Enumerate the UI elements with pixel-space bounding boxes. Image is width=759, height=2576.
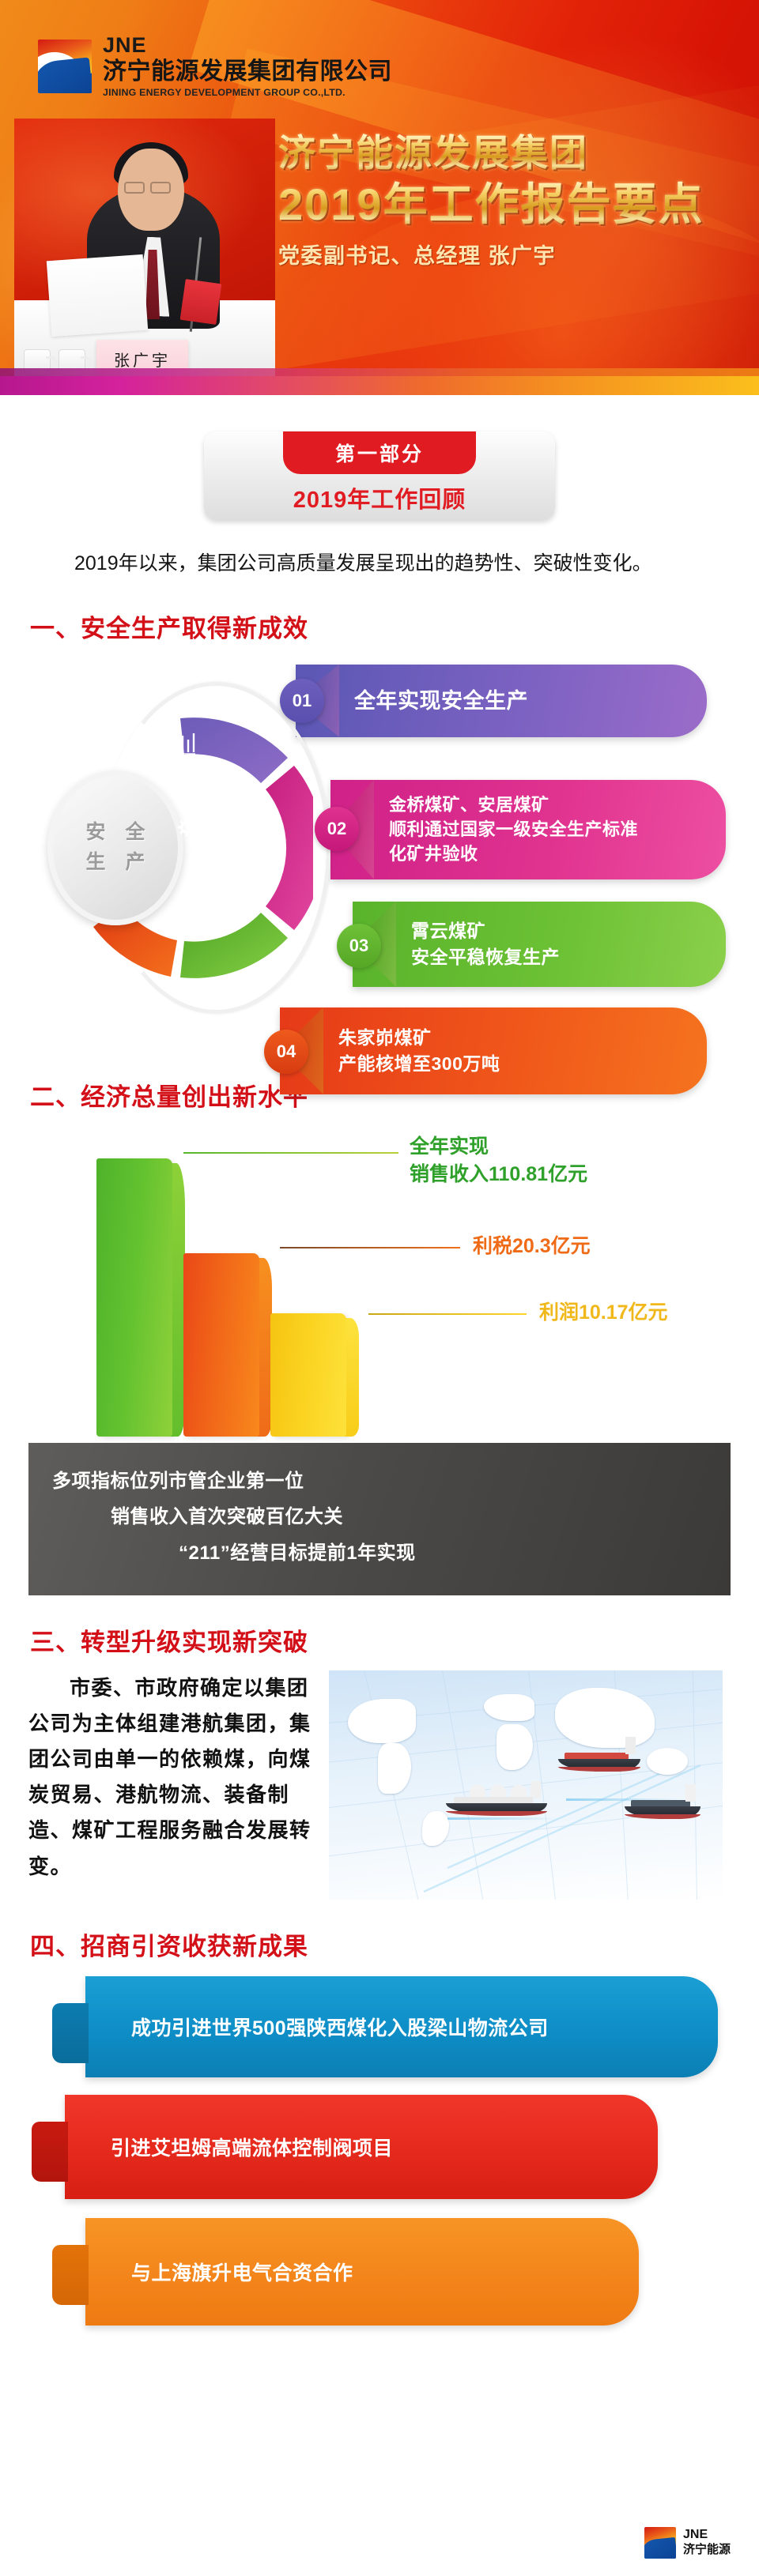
ribbon-item-1-label: 成功引进世界500强陕西煤化入股梁山物流公司 bbox=[131, 2013, 549, 2041]
section-3-row: 市委、市政府确定以集团公司为主体组建港航集团，集团公司由单一的依赖煤，向煤炭贸易… bbox=[28, 1670, 731, 1900]
chart-label-profit: 利润10.17亿元 bbox=[539, 1299, 668, 1327]
ribbon-item-1: 成功引进世界500强陕西煤化入股梁山物流公司 bbox=[85, 1976, 718, 2077]
segment-01 bbox=[180, 717, 288, 783]
chart-label-sales-revenue: 全年实现 销售收入110.81亿元 bbox=[410, 1133, 587, 1188]
part-badge-label: 第一部分 bbox=[335, 439, 424, 467]
photo-red-booklet bbox=[180, 279, 222, 325]
chart-label-profit-tax: 利税20.3亿元 bbox=[473, 1233, 591, 1260]
cargo-ship-icon bbox=[558, 1748, 640, 1772]
diagram-callout-01: 全年实现安全生产 bbox=[296, 665, 707, 737]
content-area: 第一部分 2019年工作回顾 2019年以来，集团公司高质量发展呈现出的趋势性、… bbox=[0, 431, 759, 2348]
ribbon-item-2: 引进艾坦姆高端流体控制阀项目 bbox=[65, 2095, 658, 2199]
glasses-icon bbox=[150, 182, 171, 194]
bar-face bbox=[96, 1158, 172, 1437]
callout-02-text: 金桥煤矿、安居煤矿 顺利通过国家一级安全生产标准 化矿井验收 bbox=[389, 793, 638, 867]
callout-03-line2: 安全平稳恢复生产 bbox=[411, 944, 560, 970]
segment-02 bbox=[266, 766, 313, 930]
photo-paper bbox=[47, 254, 148, 337]
cargo-ship-icon bbox=[625, 1795, 700, 1819]
intro-paragraph: 2019年以来，集团公司高质量发展呈现出的趋势性、突破性变化。 bbox=[35, 547, 724, 582]
logo-company-cn: 济宁能源发展集团有限公司 bbox=[103, 58, 392, 86]
speaker-name: 张广宇 bbox=[114, 348, 171, 371]
logo-company-en: JINING ENERGY DEVELOPMENT GROUP CO.,LTD. bbox=[103, 87, 392, 98]
part-title-card: 第一部分 2019年工作回顾 bbox=[204, 431, 555, 520]
highlight-line-1: 多项指标位列市管企业第一位 bbox=[52, 1463, 707, 1500]
company-logo: JNE 济宁能源发展集团有限公司 JINING ENERGY DEVELOPME… bbox=[38, 35, 392, 98]
diagram-callout-02: 金桥煤矿、安居煤矿 顺利通过国家一级安全生产标准 化矿井验收 bbox=[330, 780, 726, 879]
callout-02-line3: 化矿井验收 bbox=[389, 842, 638, 866]
diagram-hub: 安 全 生 产 bbox=[47, 770, 183, 925]
section-1-heading: 一、安全生产取得新成效 bbox=[30, 608, 731, 644]
footer-logo-text: JNE 济宁能源 bbox=[683, 2529, 731, 2557]
continent-shape bbox=[484, 1694, 534, 1721]
ribbon-tail bbox=[32, 2122, 68, 2182]
highlight-line-2: 销售收入首次突破百亿大关 bbox=[52, 1499, 707, 1535]
callout-03-text: 霄云煤矿 安全平稳恢复生产 bbox=[411, 918, 560, 970]
dollar-icon bbox=[130, 990, 150, 1031]
ribbon-item-3-label: 与上海旗升电气合资合作 bbox=[131, 2258, 353, 2286]
continent-shape bbox=[647, 1748, 688, 1775]
ship-wake bbox=[447, 1817, 558, 1820]
footer-logo-cn: 济宁能源 bbox=[683, 2543, 731, 2557]
infographic-page: JNE 济宁能源发展集团有限公司 JINING ENERGY DEVELOPME… bbox=[0, 0, 759, 2576]
header-banner: JNE 济宁能源发展集团有限公司 JINING ENERGY DEVELOPME… bbox=[0, 0, 759, 395]
glasses-icon bbox=[124, 182, 145, 194]
bar-profit-tax bbox=[183, 1253, 259, 1437]
chart-label-1-line2: 销售收入110.81亿元 bbox=[410, 1161, 587, 1188]
section-3-paragraph: 市委、市政府确定以集团公司为主体组建港航集团，集团公司由单一的依赖煤，向煤炭贸易… bbox=[28, 1670, 312, 1885]
section-4-heading: 四、招商引资收获新成果 bbox=[30, 1926, 731, 1962]
bar-face bbox=[183, 1253, 259, 1437]
economy-bar-chart: 全年实现 销售收入110.81亿元 利税20.3亿元 利润10.17亿元 bbox=[28, 1120, 731, 1437]
continent-shape bbox=[348, 1699, 416, 1743]
callout-04-text: 朱家峁煤矿 产能核增至300万吨 bbox=[338, 1025, 500, 1076]
header-bottom-band bbox=[0, 376, 759, 395]
speaker-photo: 张广宇 bbox=[14, 119, 275, 395]
part-badge: 第一部分 bbox=[283, 431, 476, 474]
bar-face bbox=[270, 1313, 346, 1437]
header-title-group: 济宁能源发展集团 2019年工作报告要点 党委副书记、总经理 张广宇 bbox=[278, 133, 753, 269]
callout-04-line1: 朱家峁煤矿 bbox=[338, 1025, 500, 1051]
diagram-hub-line2: 生 产 bbox=[79, 848, 153, 878]
diagram-badge-04: 04 bbox=[264, 1030, 308, 1074]
bar-profit bbox=[270, 1313, 346, 1437]
alarm-clock-icon bbox=[171, 908, 199, 943]
ribbon-tail bbox=[52, 2245, 89, 2305]
header-bottom-band bbox=[0, 368, 759, 376]
gears-icon bbox=[177, 818, 207, 849]
economy-highlight-box: 多项指标位列市管企业第一位 销售收入首次突破百亿大关 “211”经营目标提前1年… bbox=[28, 1443, 731, 1595]
diagram-badge-01: 01 bbox=[280, 679, 324, 723]
ribbon-item-2-label: 引进艾坦姆高端流体控制阀项目 bbox=[111, 2133, 393, 2161]
callout-03-line1: 霄云煤矿 bbox=[411, 918, 560, 944]
header-subtitle: 党委副书记、总经理 张广宇 bbox=[278, 239, 753, 269]
header-title-line2: 2019年工作报告要点 bbox=[278, 178, 753, 231]
header-title-line1: 济宁能源发展集团 bbox=[278, 133, 753, 175]
part-title-label: 2019年工作回顾 bbox=[293, 481, 466, 514]
callout-01-line1: 全年实现安全生产 bbox=[354, 686, 528, 716]
ribbon-tail bbox=[52, 2003, 89, 2063]
chart-leader-line bbox=[368, 1313, 527, 1315]
callout-04-line2: 产能核增至300万吨 bbox=[338, 1051, 500, 1077]
diagram-badge-03: 03 bbox=[337, 924, 381, 968]
chart-leader-line bbox=[280, 1247, 460, 1248]
highlight-line-3: “211”经营目标提前1年实现 bbox=[52, 1535, 707, 1572]
diagram-callout-04: 朱家峁煤矿 产能核增至300万吨 bbox=[280, 1007, 707, 1094]
jne-logo-icon bbox=[644, 2527, 676, 2559]
logo-abbr: JNE bbox=[103, 35, 392, 56]
bar-chart-icon bbox=[169, 731, 196, 761]
chart-label-1-line1: 全年实现 bbox=[410, 1133, 587, 1161]
section-3-heading: 三、转型升级实现新突破 bbox=[30, 1622, 731, 1658]
callout-02-line2: 顺利通过国家一级安全生产标准 bbox=[389, 817, 638, 842]
ribbon-item-3: 与上海旗升电气合资合作 bbox=[85, 2218, 639, 2326]
jne-logo-icon bbox=[38, 40, 92, 93]
bar-sales-revenue bbox=[96, 1158, 172, 1437]
callout-02-line1: 金桥煤矿、安居煤矿 bbox=[389, 793, 638, 817]
callout-01-text: 全年实现安全生产 bbox=[354, 686, 528, 716]
footer-logo-abbr: JNE bbox=[683, 2529, 731, 2541]
diagram-badge-02: 02 bbox=[315, 807, 359, 851]
chart-leader-line bbox=[183, 1152, 398, 1154]
part-title: 2019年工作回顾 bbox=[204, 476, 555, 520]
world-map-cargo-ships-image bbox=[329, 1670, 723, 1900]
diagram-callout-03: 霄云煤矿 安全平稳恢复生产 bbox=[353, 902, 726, 987]
company-logo-text: JNE 济宁能源发展集团有限公司 JINING ENERGY DEVELOPME… bbox=[103, 35, 392, 98]
safety-production-diagram: 安 全 生 产 全年实现安全生产 01 金桥煤矿、安居煤矿 顺利通过国家一级安全… bbox=[28, 655, 731, 1050]
footer-logo: JNE 济宁能源 bbox=[644, 2527, 731, 2559]
investment-ribbons: 成功引进世界500强陕西煤化入股梁山物流公司 引进艾坦姆高端流体控制阀项目 与上… bbox=[28, 1976, 731, 2348]
diagram-hub-line1: 安 全 bbox=[79, 818, 153, 848]
cargo-ship-icon bbox=[446, 1789, 547, 1816]
